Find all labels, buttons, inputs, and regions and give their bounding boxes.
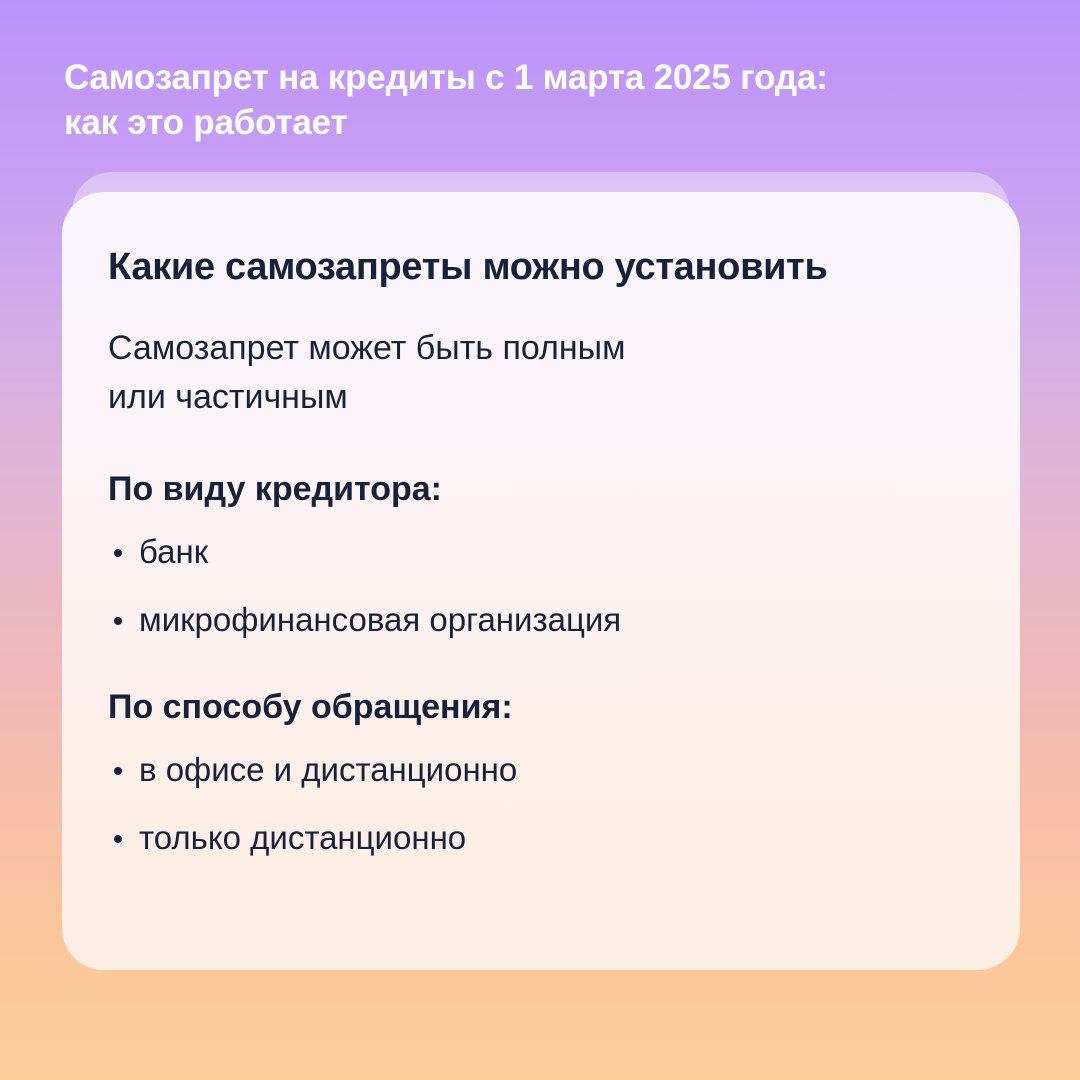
footer: госуслуги (0, 970, 1080, 1080)
slide-root: Самозапрет на кредиты с 1 марта 2025 год… (0, 0, 1080, 1080)
list-item: банк (108, 532, 984, 572)
card-content: Какие самозапреты можно установить Самоз… (108, 222, 984, 858)
card-heading: Какие самозапреты можно установить (108, 244, 984, 290)
card-intro-text: Самозапрет может быть полным или частичн… (108, 324, 984, 422)
list-item: микрофинансовая организация (108, 600, 984, 640)
content-card: Какие самозапреты можно установить Самоз… (62, 192, 1020, 970)
list-item: в офисе и дистанционно (108, 750, 984, 790)
subheading-lender-type: По виду кредитора: (108, 468, 984, 510)
page-title: Самозапрет на кредиты с 1 марта 2025 год… (64, 55, 944, 145)
subheading-application-method: По способу обращения: (108, 686, 984, 728)
list-lender-type: банк микрофинансовая организация (108, 532, 984, 640)
list-application-method: в офисе и дистанционно только дистанцион… (108, 750, 984, 858)
list-item: только дистанционно (108, 818, 984, 858)
